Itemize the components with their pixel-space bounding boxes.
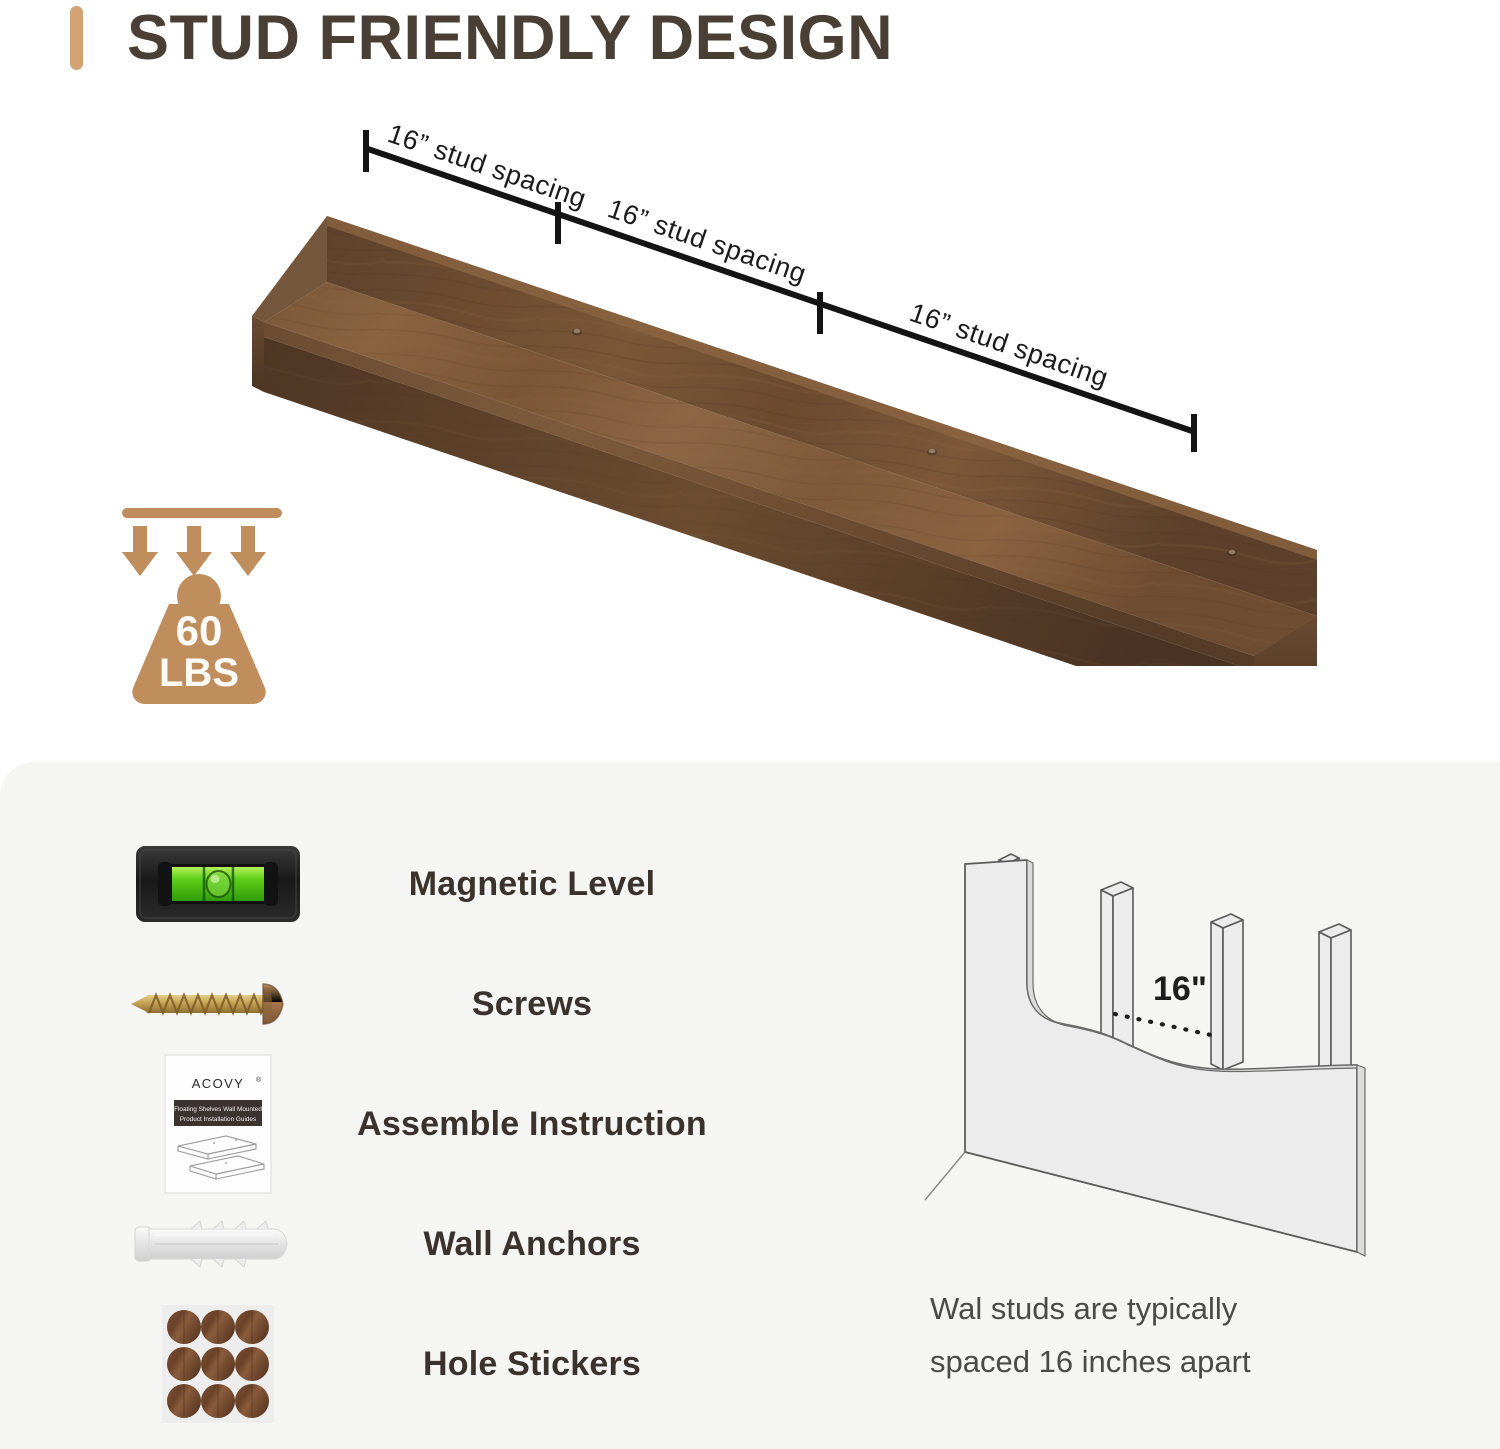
instruction-booklet-icon: ACOVY ® Floating Shelves Wall Mounted Pr… <box>118 1054 318 1194</box>
page-title: STUD FRIENDLY DESIGN <box>127 2 893 74</box>
wall-anchor-icon <box>118 1213 318 1275</box>
title-accent-bar <box>70 6 83 70</box>
screw-hole <box>572 329 582 336</box>
weight-unit: LBS <box>159 651 239 695</box>
wall-stud-diagram: 16" <box>895 822 1385 1282</box>
stud-caption-line-2: spaced 16 inches apart <box>930 1335 1360 1388</box>
stud-dimension-label: 16" <box>1153 970 1207 1008</box>
screw-icon <box>118 968 318 1040</box>
accessory-item-magnetic-level: Magnetic Level <box>118 824 758 944</box>
booklet-brand: ACOVY <box>192 1076 245 1091</box>
accessory-item-wall-anchors: Wall Anchors <box>118 1184 758 1304</box>
screw-hole <box>927 449 937 456</box>
booklet-line1: Floating Shelves Wall Mounted <box>174 1106 262 1113</box>
wall-stud-svg: 16" <box>895 822 1385 1282</box>
accessory-label: Wall Anchors <box>318 1225 758 1264</box>
booklet-line2: Product Installation Guides <box>180 1116 256 1123</box>
load-arrows-icon <box>122 526 266 576</box>
stud-caption-line-1: Wal studs are typically <box>930 1282 1360 1335</box>
stud-3 <box>1211 914 1243 1070</box>
stud-caption: Wal studs are typically spaced 16 inches… <box>930 1282 1360 1389</box>
accessories-list: Magnetic Level <box>118 824 758 1424</box>
accessory-label: Magnetic Level <box>318 865 758 904</box>
magnetic-level-icon <box>118 838 318 930</box>
shelf-illustration <box>232 186 1322 666</box>
accessory-label: Assemble Instruction <box>318 1105 758 1144</box>
weight-capacity-svg: 60 LBS <box>118 500 308 712</box>
hole-stickers-icon <box>118 1305 318 1423</box>
page-title-row: STUD FRIENDLY DESIGN <box>70 2 893 74</box>
hero-section: STUD FRIENDLY DESIGN <box>0 0 1500 762</box>
shelf-bar-icon <box>122 508 282 518</box>
weight-capacity-icon: 60 LBS <box>118 500 308 712</box>
accessory-item-instruction: ACOVY ® Floating Shelves Wall Mounted Pr… <box>118 1064 758 1184</box>
accessory-label: Screws <box>318 985 758 1024</box>
stud-4 <box>1319 924 1351 1074</box>
accessories-panel: Magnetic Level <box>0 762 1500 1449</box>
weight-value: 60 <box>176 607 223 654</box>
shelf-svg <box>232 186 1322 666</box>
booklet-trademark: ® <box>256 1076 262 1084</box>
accessory-item-screws: Screws <box>118 944 758 1064</box>
accessory-label: Hole Stickers <box>318 1345 758 1384</box>
screw-hole <box>1227 550 1237 557</box>
accessory-item-hole-stickers: Hole Stickers <box>118 1304 758 1424</box>
